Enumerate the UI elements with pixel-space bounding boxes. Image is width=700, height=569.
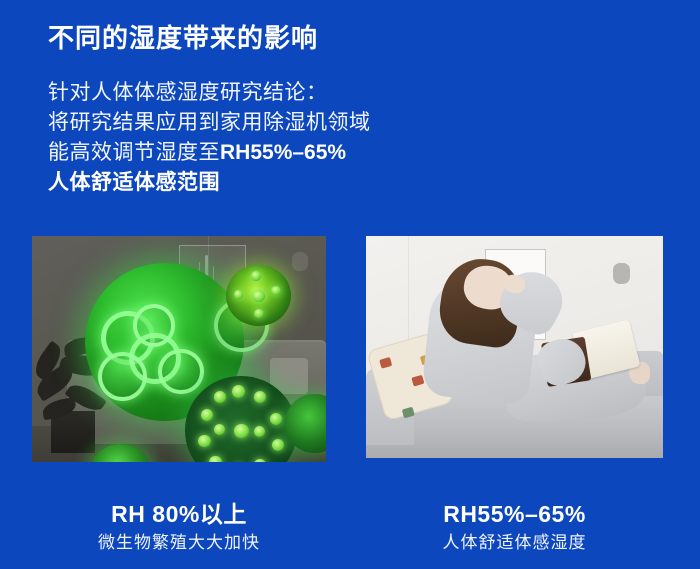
body-line-2: 将研究结果应用到家用除湿机领域 bbox=[48, 108, 508, 138]
caption-title-left: RH 80%以上 bbox=[32, 500, 326, 528]
caption-sub-left: 微生物繁殖大大加快 bbox=[32, 530, 326, 556]
woman-reading-figure bbox=[414, 263, 646, 423]
caption-comfort-humidity: RH55%–65% 人体舒适体感湿度 bbox=[366, 500, 663, 556]
microbe-spike bbox=[271, 286, 281, 295]
microbe-sphere-bright bbox=[226, 265, 291, 326]
microbe-cell bbox=[133, 304, 176, 347]
body-text-block: 针对人体体感湿度研究结论： 将研究结果应用到家用除湿机领域 能高效调节湿度至RH… bbox=[48, 78, 508, 198]
microbe-core bbox=[234, 424, 249, 438]
humidity-range-highlight: RH55%–65% bbox=[220, 141, 346, 164]
microbe-spike bbox=[214, 391, 226, 403]
caption-high-humidity: RH 80%以上 微生物繁殖大大加快 bbox=[32, 500, 326, 556]
body-line-4: 人体舒适体感范围 bbox=[48, 168, 508, 198]
microbe-spike bbox=[254, 391, 266, 403]
image-panel-high-humidity bbox=[32, 236, 326, 462]
microbe-spike bbox=[270, 413, 282, 425]
humidity-comparison-slide: 不同的湿度带来的影响 针对人体体感湿度研究结论： 将研究结果应用到家用除湿机领域… bbox=[0, 0, 700, 569]
microbe-cell bbox=[158, 349, 204, 395]
image-panel-comfort-humidity bbox=[366, 236, 663, 458]
microbe-core bbox=[252, 290, 265, 302]
microbe-spike bbox=[232, 385, 245, 398]
body-line-1: 针对人体体感湿度研究结论： bbox=[48, 78, 508, 108]
body-line-3-prefix: 能高效调节湿度至 bbox=[48, 141, 220, 164]
microbe-core bbox=[214, 424, 225, 435]
microbe-spike bbox=[209, 456, 221, 462]
microbe-spike bbox=[198, 435, 210, 447]
caption-sub-right: 人体舒适体感湿度 bbox=[366, 530, 663, 556]
microbe-core bbox=[254, 426, 265, 437]
microbe-spike bbox=[234, 290, 244, 299]
microbe-spike bbox=[251, 271, 261, 281]
microbe-cell bbox=[98, 352, 147, 401]
wall-fixture-dark bbox=[292, 252, 308, 271]
microbe-spike bbox=[272, 439, 284, 451]
microbe-spike bbox=[254, 459, 266, 462]
microbe-spike bbox=[254, 309, 264, 318]
caption-title-right: RH55%–65% bbox=[366, 500, 663, 528]
page-title: 不同的湿度带来的影响 bbox=[48, 18, 318, 55]
microbe-spike bbox=[201, 409, 213, 421]
body-line-3: 能高效调节湿度至RH55%–65% bbox=[48, 138, 508, 168]
